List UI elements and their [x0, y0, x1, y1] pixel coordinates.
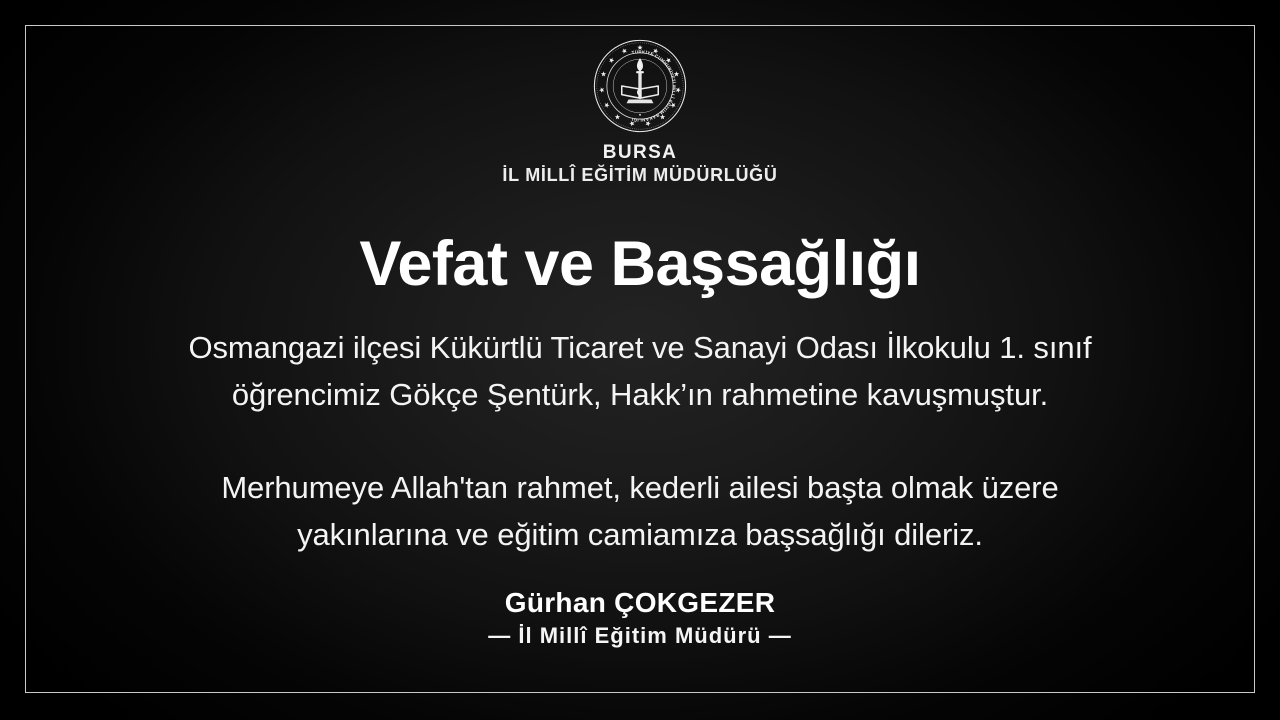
announcement-body: Osmangazi ilçesi Kükürtlü Ticaret ve San… — [0, 325, 1280, 558]
signatory-name: Gürhan ÇOKGEZER — [0, 586, 1280, 619]
page-title: Vefat ve Başsağlığı — [0, 229, 1280, 300]
signatory-title: — İl Millî Eğitim Müdürü — — [0, 623, 1280, 649]
announcement-paragraph-2-line-2: yakınlarına ve eğitim camiamıza başsağlı… — [0, 512, 1280, 559]
organization-city: BURSA — [603, 143, 678, 163]
header-block: TÜRKİYE CUMHURİYETİ MİLLÎ EĞİTİM BAKANLI… — [0, 38, 1280, 186]
announcement-paragraph-1-line-2: öğrencimiz Gökçe Şentürk, Hakk’ın rahmet… — [0, 372, 1280, 419]
ministry-emblem-icon: TÜRKİYE CUMHURİYETİ MİLLÎ EĞİTİM BAKANLI… — [592, 38, 688, 134]
memorial-poster: TÜRKİYE CUMHURİYETİ MİLLÎ EĞİTİM BAKANLI… — [0, 0, 1280, 720]
organization-unit: İL MİLLÎ EĞİTİM MÜDÜRLÜĞÜ — [502, 166, 777, 186]
announcement-paragraph-2-line-1: Merhumeye Allah'tan rahmet, kederli aile… — [0, 465, 1280, 512]
announcement-paragraph-1-line-1: Osmangazi ilçesi Kükürtlü Ticaret ve San… — [0, 325, 1280, 372]
paragraph-spacer — [0, 418, 1280, 465]
signature-block: Gürhan ÇOKGEZER — İl Millî Eğitim Müdürü… — [0, 586, 1280, 649]
